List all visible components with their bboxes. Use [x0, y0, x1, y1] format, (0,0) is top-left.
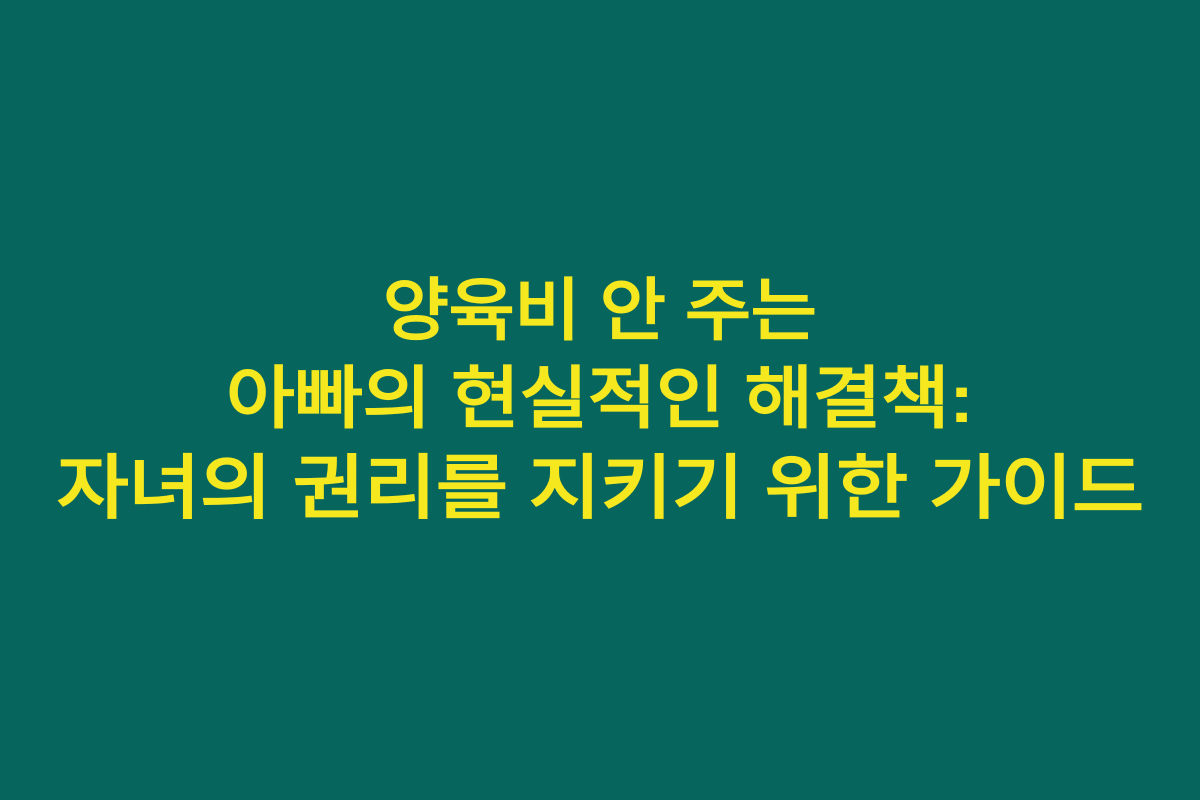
headline-line-1: 양육비 안 주는 [383, 277, 817, 345]
headline-line-2: 아빠의 현실적인 해결책: [226, 365, 973, 433]
poster-canvas: 양육비 안 주는 아빠의 현실적인 해결책: 자녀의 권리를 지키기 위한 가이… [0, 0, 1200, 800]
headline-block: 양육비 안 주는 아빠의 현실적인 해결책: 자녀의 권리를 지키기 위한 가이… [0, 277, 1200, 523]
headline-line-3: 자녀의 권리를 지키기 위한 가이드 [57, 453, 1144, 523]
